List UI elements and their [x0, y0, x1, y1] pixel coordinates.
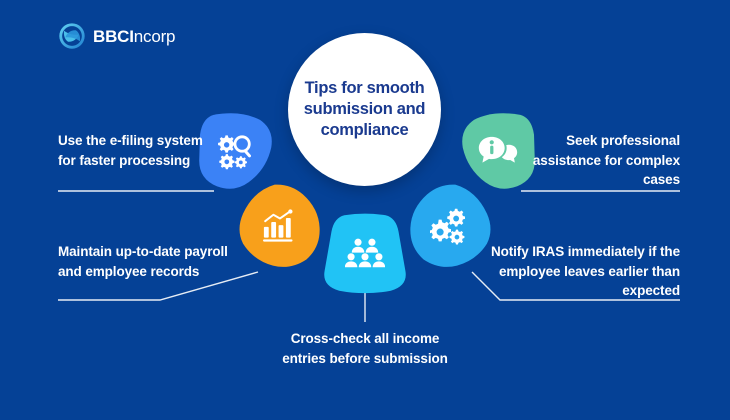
tip-icon-people[interactable]: [322, 212, 408, 294]
center-badge: Tips for smooth submission and complianc…: [288, 33, 441, 186]
bar-chart-growth-icon: [262, 209, 298, 243]
chat-info-icon: [478, 135, 518, 167]
tip-label-people: Cross-check all income entries before su…: [281, 329, 449, 368]
gears-icon: [430, 207, 470, 245]
group-people-icon: [345, 238, 385, 268]
tip-label-advice: Seek professional assistance for complex…: [524, 131, 680, 190]
gears-magnifier-icon: [215, 131, 257, 171]
tip-label-efiling: Use the e-filing system for faster proce…: [58, 131, 210, 170]
page-title: Tips for smooth submission and complianc…: [288, 78, 441, 141]
tip-label-notify: Notify IRAS immediately if the employee …: [490, 242, 680, 301]
tip-icon-notify[interactable]: [406, 182, 494, 270]
tip-label-payroll: Maintain up-to-date payroll and employee…: [58, 242, 230, 281]
tip-icon-payroll[interactable]: [236, 182, 324, 270]
infographic-canvas: BBCIncorp: [0, 0, 730, 420]
